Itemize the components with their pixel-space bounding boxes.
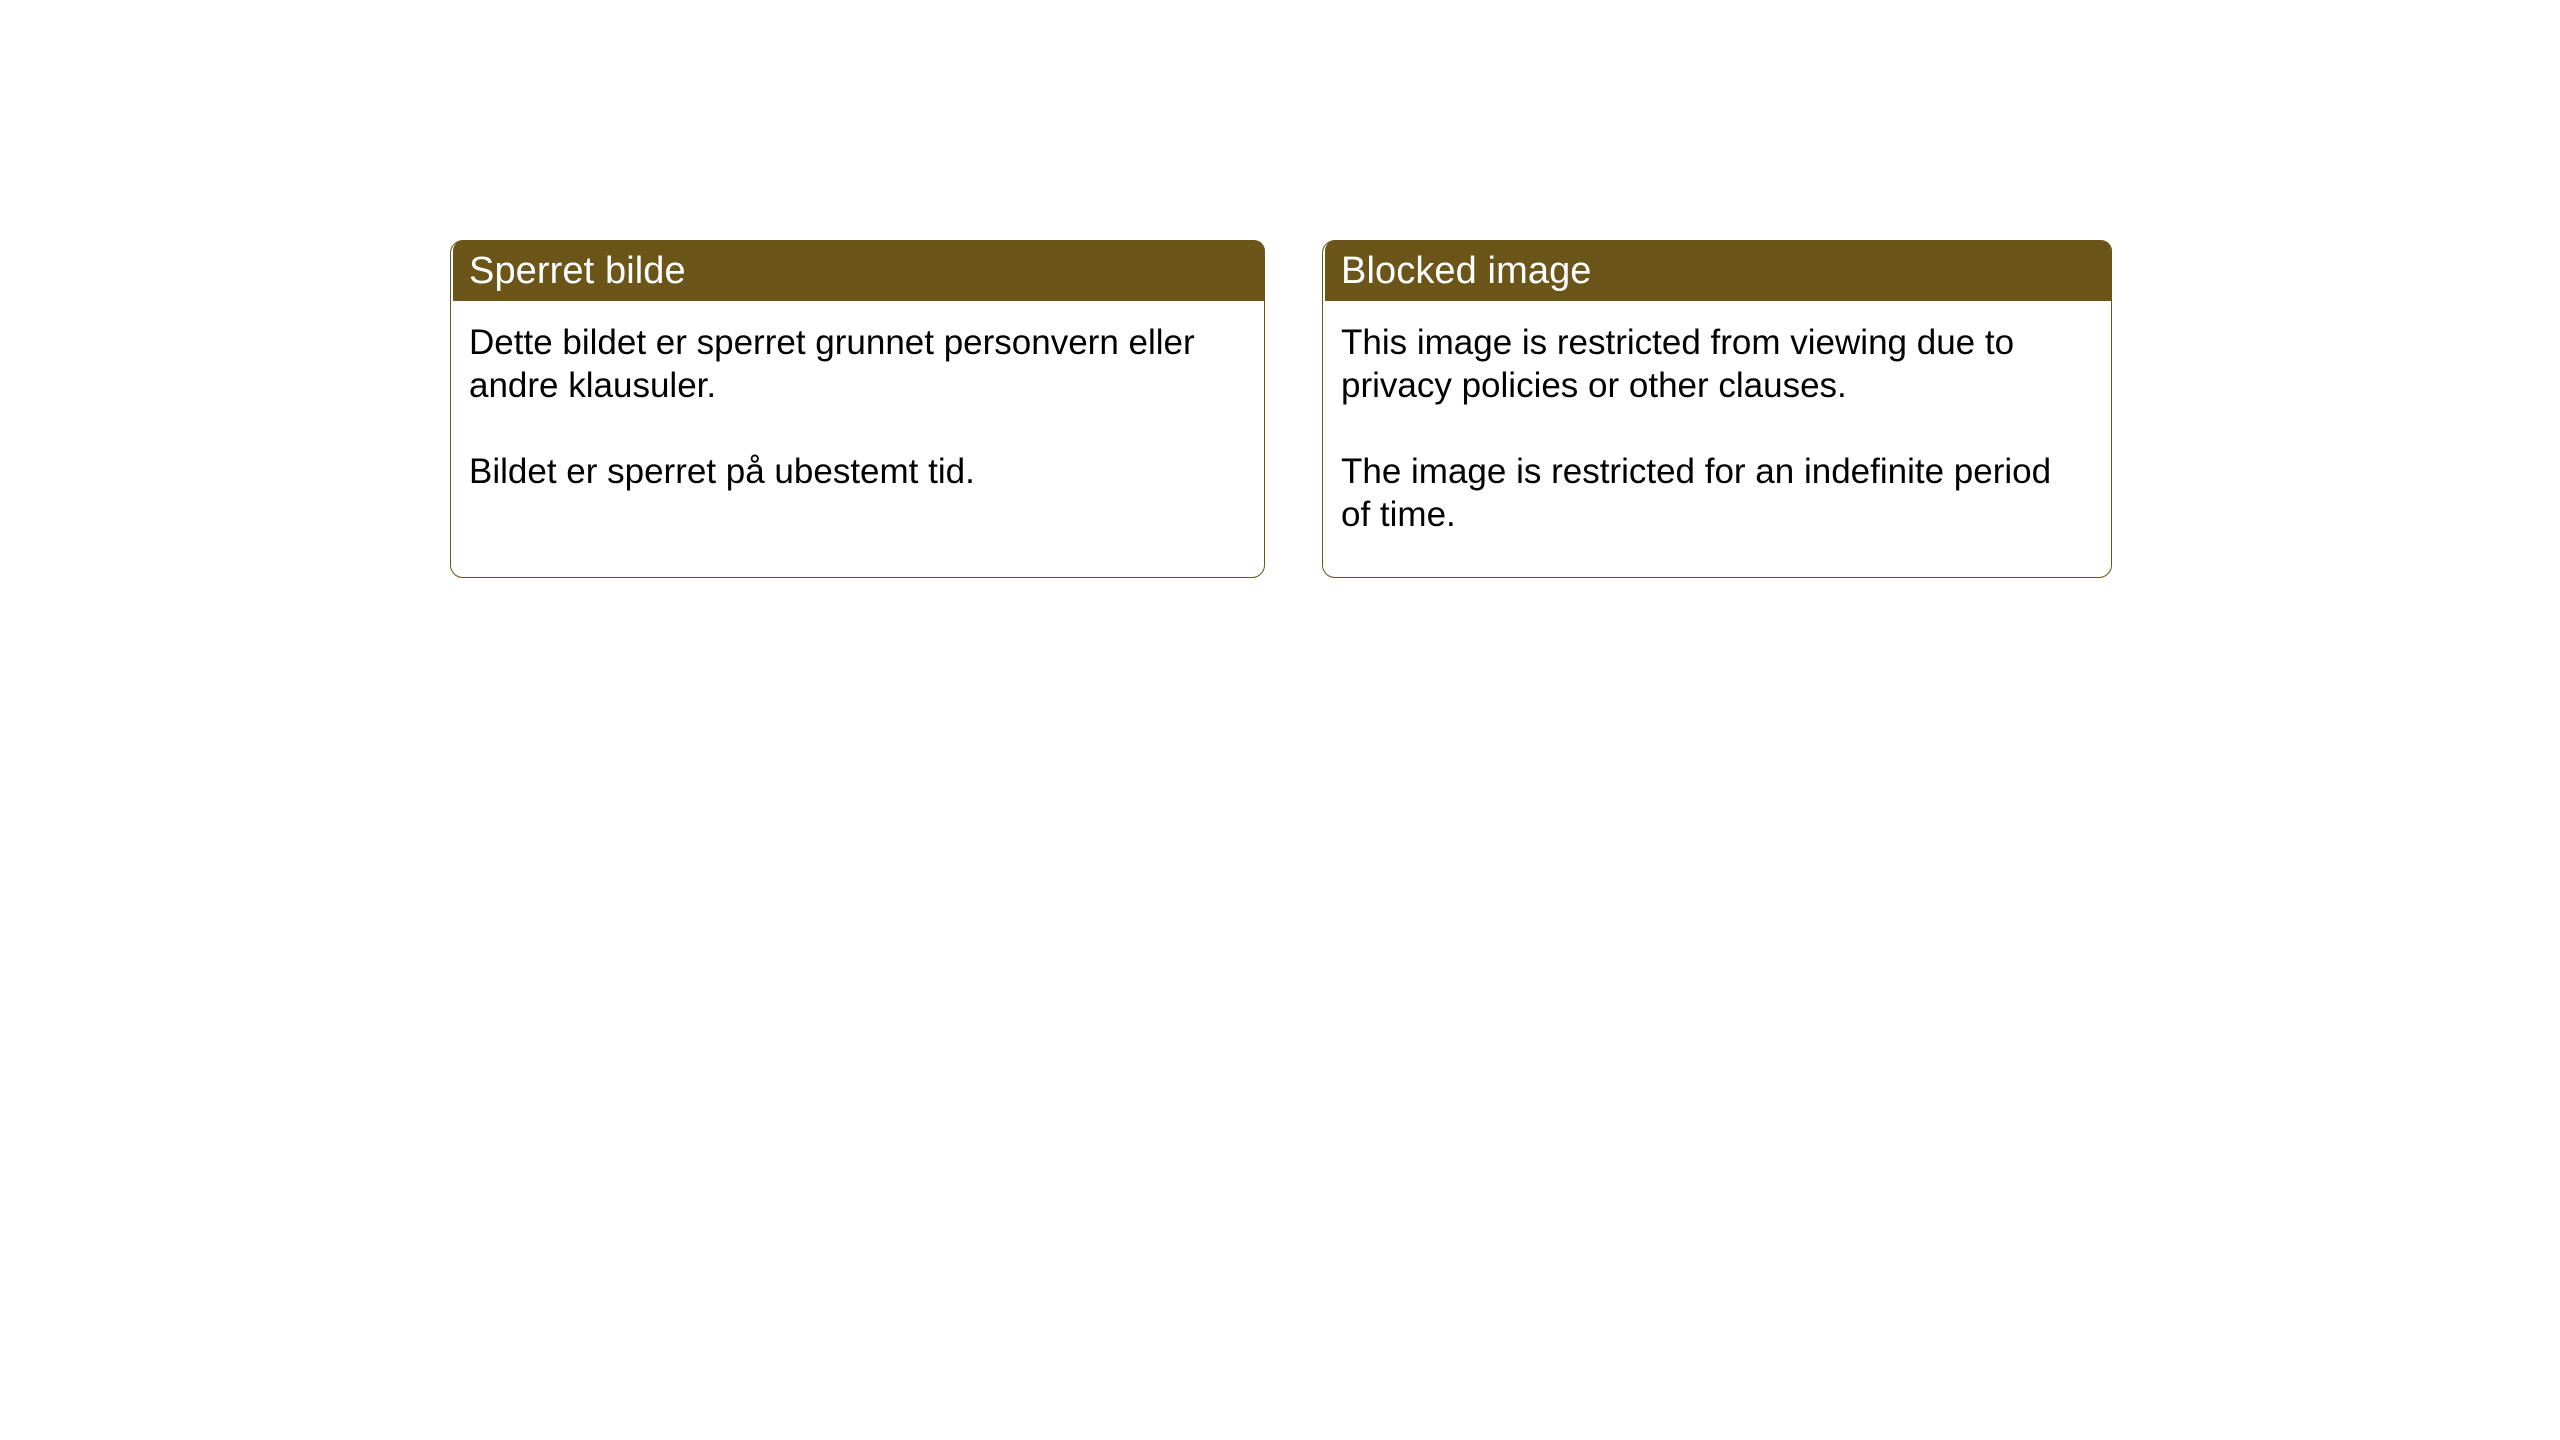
blocked-image-card-norwegian: Sperret bilde Dette bildet er sperret gr… — [450, 240, 1265, 578]
card-header-english: Blocked image — [1325, 240, 2112, 301]
card-body-norwegian: Dette bildet er sperret grunnet personve… — [451, 301, 1264, 577]
card-paragraph-duration-norwegian: Bildet er sperret på ubestemt tid. — [469, 450, 1242, 493]
card-paragraph-reason-norwegian: Dette bildet er sperret grunnet personve… — [469, 321, 1242, 407]
card-paragraph-reason-english: This image is restricted from viewing du… — [1341, 321, 2089, 407]
card-title-norwegian: Sperret bilde — [469, 252, 686, 290]
card-header-norwegian: Sperret bilde — [453, 240, 1265, 301]
card-paragraph-duration-english: The image is restricted for an indefinit… — [1341, 450, 2089, 536]
card-title-english: Blocked image — [1341, 252, 1592, 290]
blocked-image-card-english: Blocked image This image is restricted f… — [1322, 240, 2112, 578]
card-body-english: This image is restricted from viewing du… — [1323, 301, 2111, 577]
blocked-image-notice-group: Sperret bilde Dette bildet er sperret gr… — [450, 240, 2112, 578]
